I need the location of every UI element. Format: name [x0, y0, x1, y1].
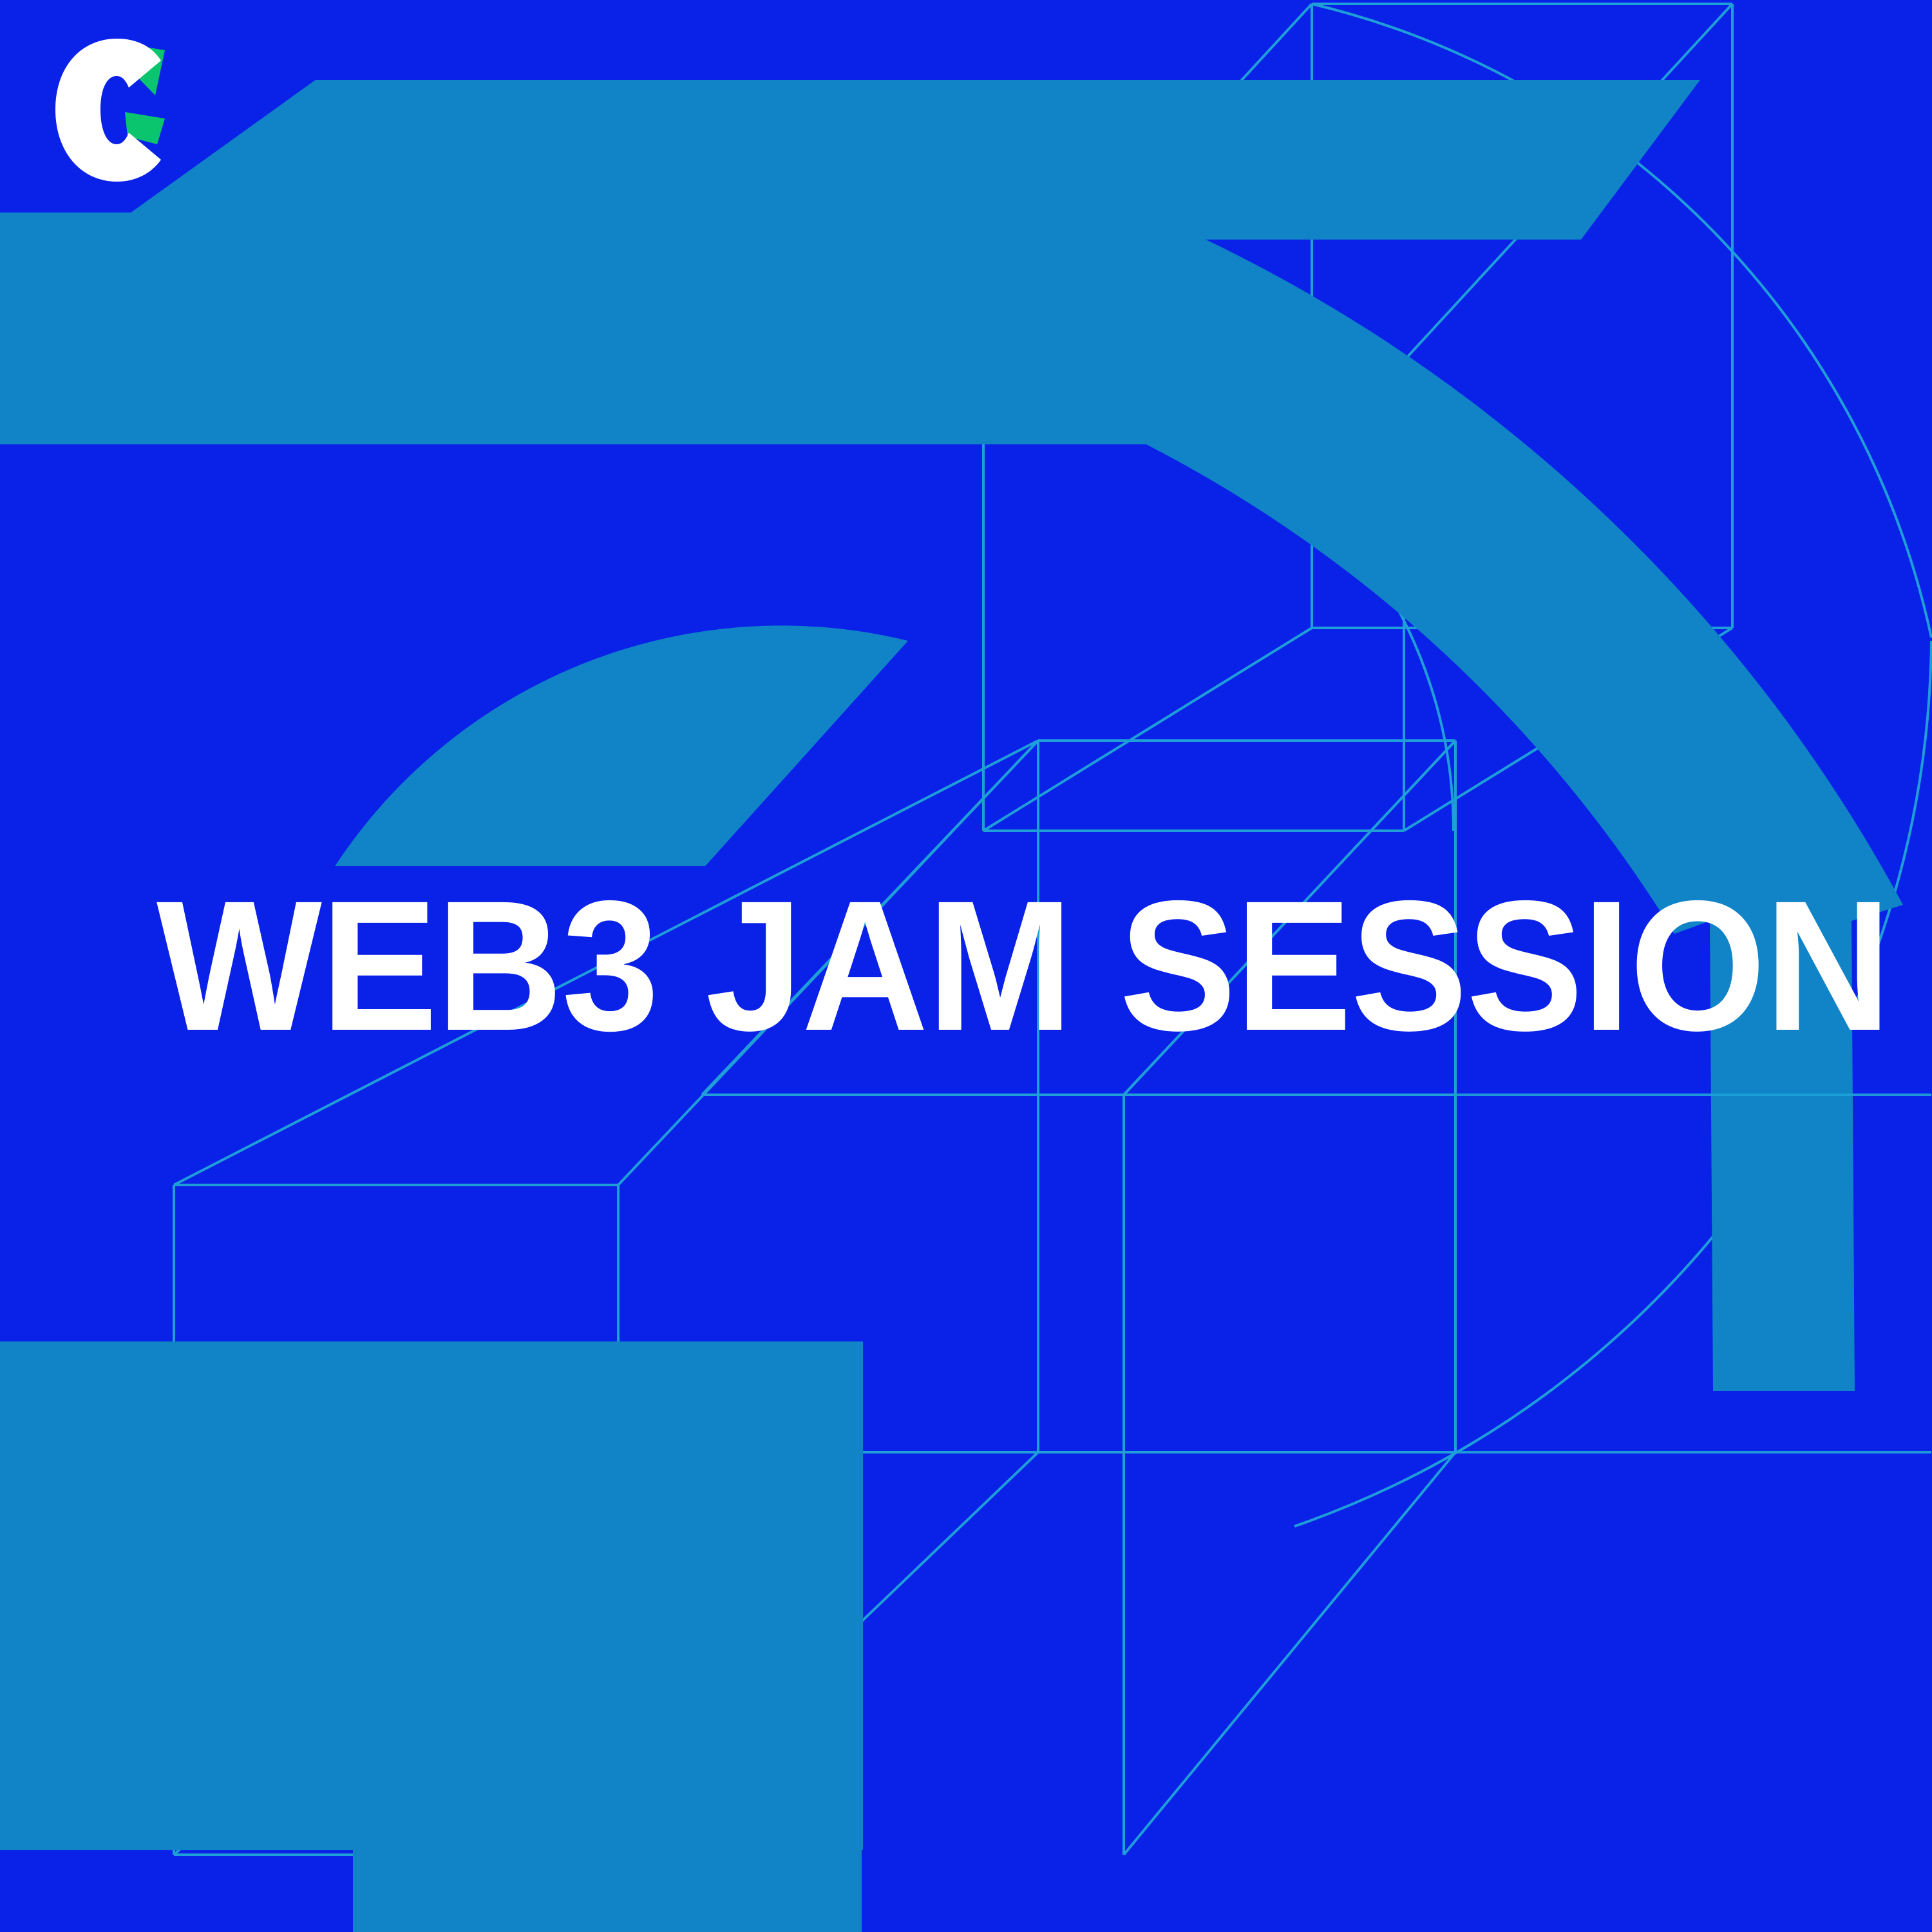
page-title: WEB3 JAM SESSION — [156, 873, 1890, 1059]
top-slanted-band — [93, 80, 1700, 240]
bottom-small-rectangle — [353, 1797, 862, 1932]
logo-letter-c — [55, 39, 161, 182]
poster-canvas: WEB3 JAM SESSION — [0, 0, 1932, 1932]
hero-title-block: WEB3 JAM SESSION — [156, 873, 1932, 1059]
lower-left-rectangle — [0, 1341, 863, 1850]
brand-logo-icon[interactable] — [50, 36, 173, 184]
